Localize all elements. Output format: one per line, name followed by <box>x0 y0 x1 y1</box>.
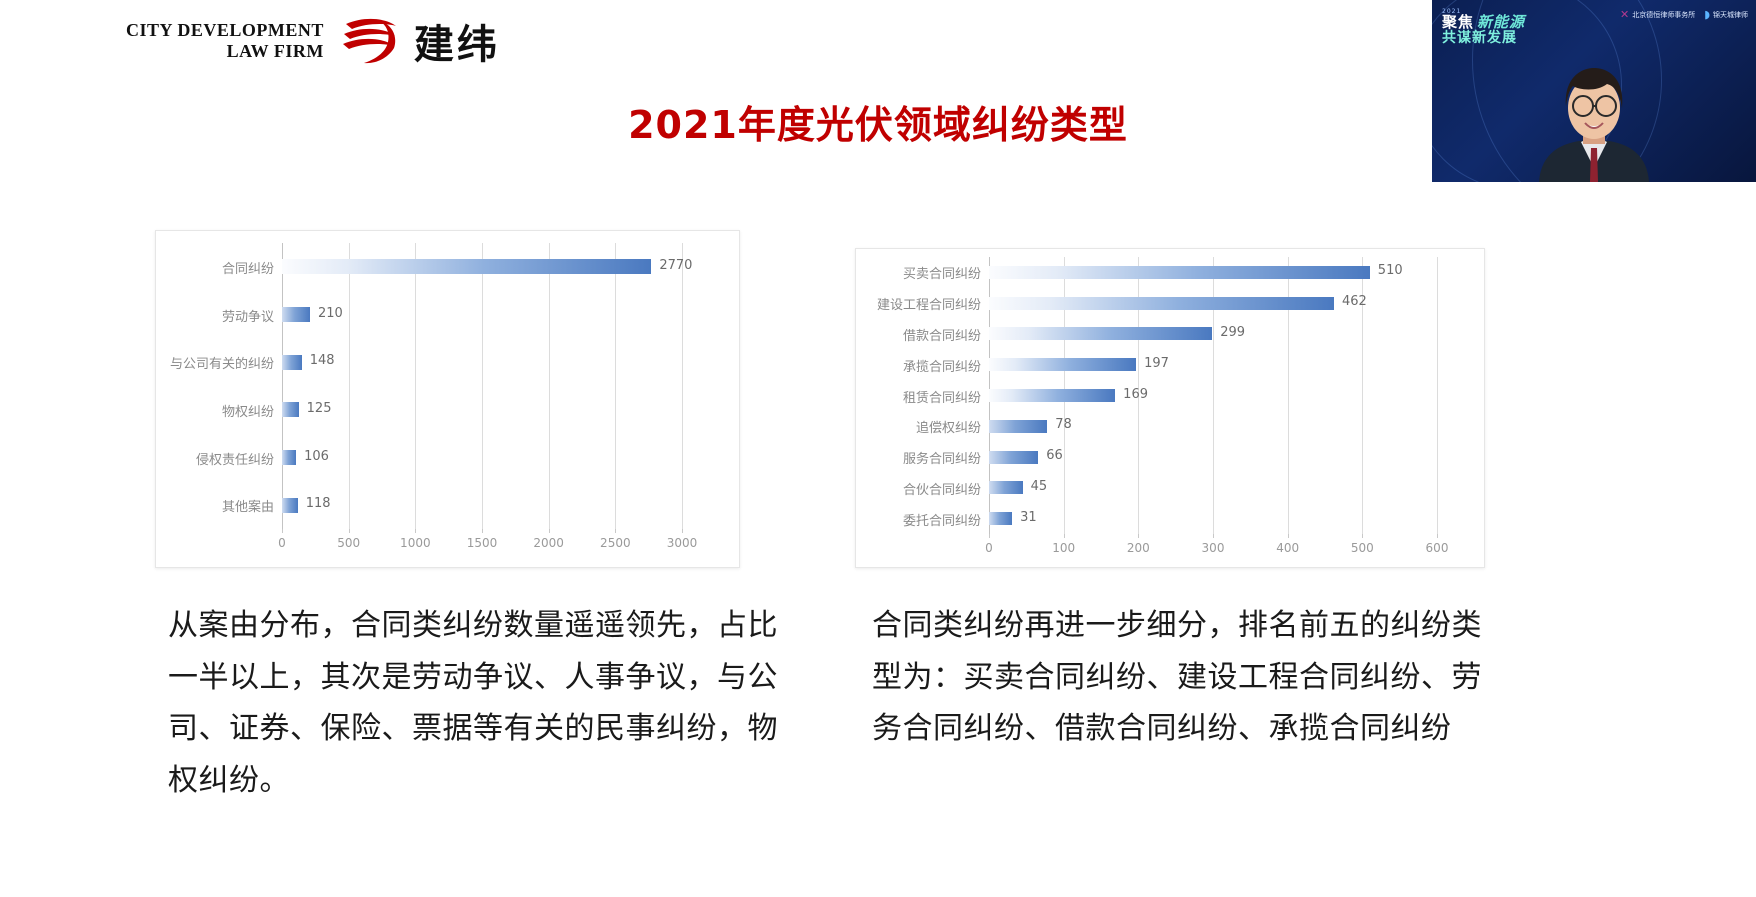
chart-tick-mark <box>1437 534 1438 538</box>
x-mark-icon: ✕ <box>1620 9 1629 20</box>
chart-bar-value-label: 66 <box>1046 448 1063 463</box>
chart-category-label: 合伙合同纠纷 <box>856 479 981 498</box>
video-thumbnail[interactable]: 2021 聚焦 新能源 共谋新发展 ✕ 北京德恒律师事务所 ◗ 锦天城律师 <box>1432 0 1756 182</box>
chart-x-tick-label: 400 <box>1276 541 1299 555</box>
chart-right-container: 0100200300400500600买卖合同纠纷510建设工程合同纠纷462借… <box>855 248 1485 568</box>
chart-bar <box>989 481 1023 494</box>
chart-tick-mark <box>989 534 990 538</box>
chart-y-axis-line <box>282 243 283 529</box>
chart-tick-mark <box>1288 534 1289 538</box>
video-headline-line2: 共谋新发展 <box>1442 31 1525 46</box>
chart-right-plot: 0100200300400500600买卖合同纠纷510建设工程合同纠纷462借… <box>856 249 1484 567</box>
chart-gridline <box>482 243 483 529</box>
chart-bar-value-label: 2770 <box>659 258 692 273</box>
video-headline-line1: 聚焦 新能源 <box>1442 15 1525 31</box>
chart-bar <box>282 307 310 322</box>
video-headline-part2: 新能源 <box>1477 15 1525 31</box>
chart-bar-value-label: 125 <box>307 401 332 416</box>
chart-x-tick-label: 3000 <box>667 536 698 550</box>
partner-logo-1: ✕ 北京德恒律师事务所 <box>1620 9 1695 20</box>
chart-bar <box>282 450 296 465</box>
logo-chinese-name: 建纬 <box>414 12 500 70</box>
chart-left-container: 050010001500200025003000合同纠纷2770劳动争议210与… <box>155 230 740 568</box>
chart-tick-mark <box>282 529 283 533</box>
chart-x-tick-label: 500 <box>337 536 360 550</box>
chart-category-label: 建设工程合同纠纷 <box>856 294 981 313</box>
chart-tick-mark <box>1138 534 1139 538</box>
chart-category-label: 追偿权纠纷 <box>856 417 981 436</box>
chart-x-tick-label: 600 <box>1426 541 1449 555</box>
chart-gridline <box>682 243 683 529</box>
video-headline-part1: 聚焦 <box>1442 15 1474 31</box>
chart-category-label: 承揽合同纠纷 <box>856 356 981 375</box>
chart-bar <box>989 358 1136 371</box>
chart-category-label: 服务合同纠纷 <box>856 448 981 467</box>
chart-bar <box>989 451 1038 464</box>
chart-bar-value-label: 148 <box>310 353 335 368</box>
chart-gridline <box>615 243 616 529</box>
caption-left: 从案由分布，合同类纠纷数量遥遥领先，占比一半以上，其次是劳动争议、人事争议，与公… <box>168 600 788 806</box>
chart-bar <box>282 402 299 417</box>
swoosh-logo-icon <box>338 14 400 68</box>
chart-x-tick-label: 1500 <box>467 536 498 550</box>
chart-bar <box>989 266 1370 279</box>
logo-text-block: CITY DEVELOPMENT LAW FIRM <box>126 20 324 62</box>
chart-category-label: 与公司有关的纠纷 <box>156 353 274 372</box>
caption-right: 合同类纠纷再进一步细分，排名前五的纠纷类型为：买卖合同纠纷、建设工程合同纠纷、劳… <box>872 600 1512 755</box>
chart-category-label: 其他案由 <box>156 496 274 515</box>
slide-root: CITY DEVELOPMENT LAW FIRM 建纬 2021年度光伏领域纠… <box>0 0 1756 897</box>
chart-category-label: 侵权责任纠纷 <box>156 449 274 468</box>
chart-category-label: 物权纠纷 <box>156 401 274 420</box>
chart-bar <box>282 498 298 513</box>
chart-bar <box>989 327 1212 340</box>
chart-category-label: 借款合同纠纷 <box>856 325 981 344</box>
chart-gridline <box>349 243 350 529</box>
chart-bar-value-label: 510 <box>1378 263 1403 278</box>
chart-bar <box>989 389 1115 402</box>
chart-tick-mark <box>1213 534 1214 538</box>
logo-line-2: LAW FIRM <box>126 41 324 62</box>
d-mark-icon: ◗ <box>1704 9 1710 20</box>
chart-tick-mark <box>1362 534 1363 538</box>
partner-label-1: 北京德恒律师事务所 <box>1632 10 1695 20</box>
chart-category-label: 租赁合同纠纷 <box>856 387 981 406</box>
chart-bar <box>989 297 1334 310</box>
speaker-avatar <box>1519 56 1669 182</box>
chart-x-tick-label: 1000 <box>400 536 431 550</box>
chart-gridline <box>1437 257 1438 534</box>
chart-bar <box>282 355 302 370</box>
chart-tick-mark <box>349 529 350 533</box>
chart-tick-mark <box>1064 534 1065 538</box>
video-partner-logos: ✕ 北京德恒律师事务所 ◗ 锦天城律师 <box>1620 9 1748 20</box>
chart-tick-mark <box>615 529 616 533</box>
video-overlay-title: 2021 聚焦 新能源 共谋新发展 <box>1442 8 1525 46</box>
chart-bar-value-label: 197 <box>1144 356 1169 371</box>
chart-bar <box>989 512 1012 525</box>
chart-x-tick-label: 0 <box>278 536 286 550</box>
chart-x-tick-label: 2000 <box>533 536 564 550</box>
chart-left-plot: 050010001500200025003000合同纠纷2770劳动争议210与… <box>156 231 739 567</box>
chart-tick-mark <box>549 529 550 533</box>
chart-x-tick-label: 2500 <box>600 536 631 550</box>
chart-x-tick-label: 200 <box>1127 541 1150 555</box>
chart-category-label: 委托合同纠纷 <box>856 510 981 529</box>
chart-gridline <box>549 243 550 529</box>
partner-logo-2: ◗ 锦天城律师 <box>1704 9 1748 20</box>
chart-bar <box>282 259 651 274</box>
chart-bar-value-label: 169 <box>1123 387 1148 402</box>
chart-bar-value-label: 78 <box>1055 417 1072 432</box>
chart-x-tick-label: 0 <box>985 541 993 555</box>
logo-line-1: CITY DEVELOPMENT <box>126 20 324 41</box>
chart-bar-value-label: 31 <box>1020 510 1037 525</box>
chart-x-tick-label: 100 <box>1052 541 1075 555</box>
chart-tick-mark <box>415 529 416 533</box>
brand-logo: CITY DEVELOPMENT LAW FIRM 建纬 <box>126 12 500 70</box>
chart-category-label: 合同纠纷 <box>156 258 274 277</box>
chart-tick-mark <box>482 529 483 533</box>
chart-bar-value-label: 106 <box>304 449 329 464</box>
chart-bar-value-label: 299 <box>1220 325 1245 340</box>
chart-tick-mark <box>682 529 683 533</box>
chart-bar-value-label: 118 <box>306 496 331 511</box>
chart-x-tick-label: 500 <box>1351 541 1374 555</box>
partner-label-2: 锦天城律师 <box>1713 10 1748 20</box>
chart-gridline <box>415 243 416 529</box>
chart-category-label: 劳动争议 <box>156 306 274 325</box>
chart-bar-value-label: 210 <box>318 306 343 321</box>
chart-bar-value-label: 462 <box>1342 294 1367 309</box>
chart-bar <box>989 420 1047 433</box>
chart-category-label: 买卖合同纠纷 <box>856 263 981 282</box>
chart-bar-value-label: 45 <box>1031 479 1048 494</box>
chart-x-tick-label: 300 <box>1202 541 1225 555</box>
